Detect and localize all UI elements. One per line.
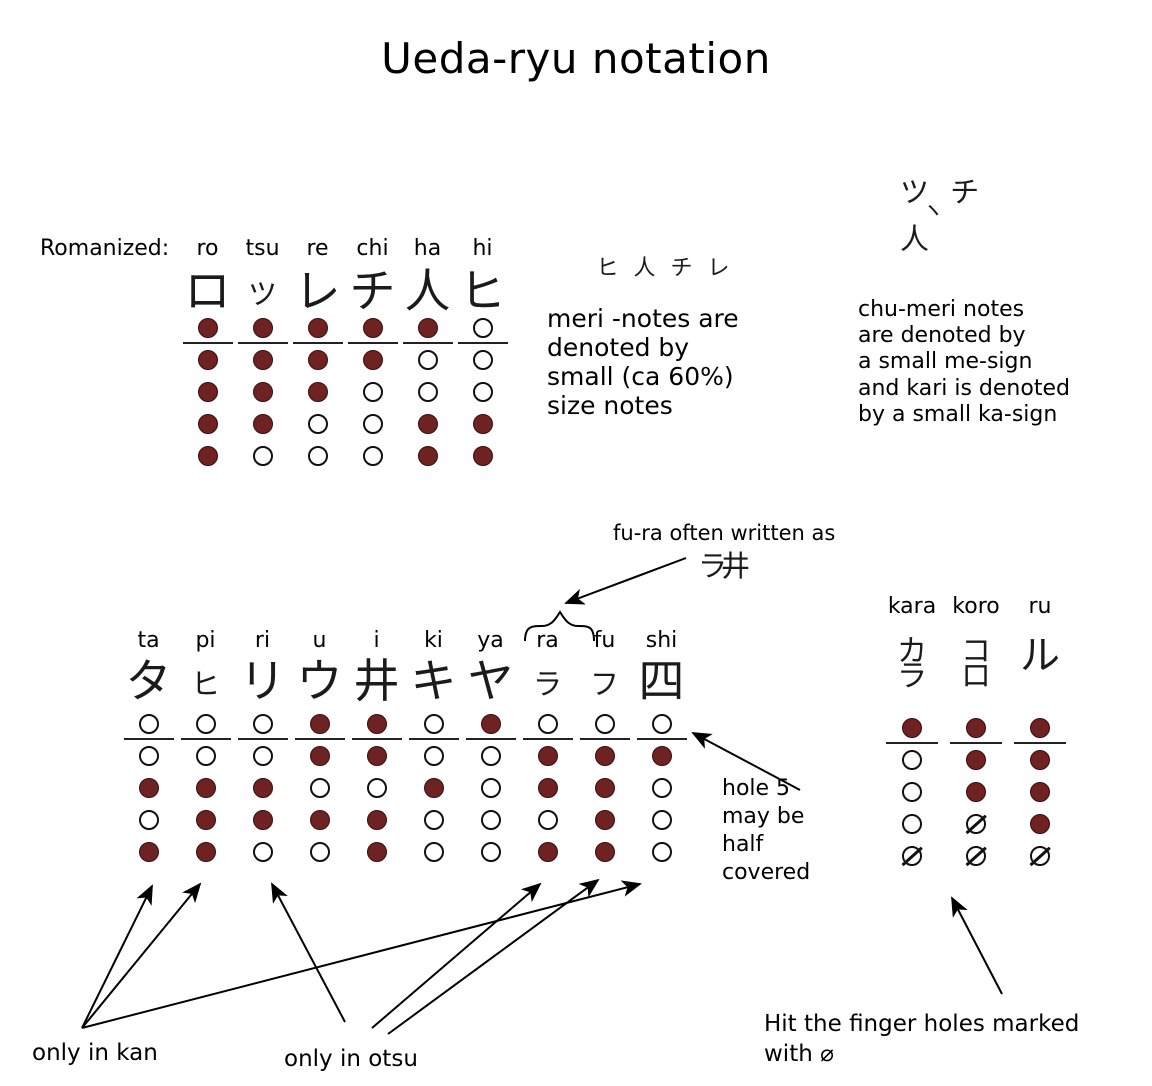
- fura-note-text: fu-ra often written as: [613, 521, 933, 546]
- hole-1-shi-open: [652, 714, 672, 734]
- hole-3-u-open: [310, 778, 330, 798]
- column-kana-ra: ラ: [521, 670, 575, 699]
- column-romaji-ro: ro: [182, 236, 234, 261]
- hole-2-re-filled: [308, 350, 328, 370]
- hole-2-ri-open: [253, 746, 273, 766]
- hole-4-ro-filled: [198, 414, 218, 434]
- hole-3-ra-filled: [538, 778, 558, 798]
- hole-2-pi-open: [196, 746, 216, 766]
- hole-3-ki-filled: [424, 778, 444, 798]
- hole-3-shi-open: [652, 778, 672, 798]
- hole-3-hi-open: [473, 382, 493, 402]
- meri-note-text: meri -notes are denoted by small (ca 60%…: [547, 304, 847, 420]
- hole-1-ya-filled: [481, 714, 501, 734]
- hole-1-pi-open: [196, 714, 216, 734]
- page-title: Ueda-ryu notation: [0, 34, 1152, 83]
- separator-line-ru: [1014, 742, 1066, 744]
- column-kana-koro: コロ: [945, 640, 1007, 689]
- notation-diagram: Ueda-ryu notation Romanized: rotsurechih…: [0, 0, 1152, 1086]
- column-kana-tsu: ツ: [237, 280, 289, 309]
- separator-line-koro: [950, 742, 1002, 744]
- hole-2-kara-open: [902, 750, 922, 770]
- hole-2-tsu-filled: [253, 350, 273, 370]
- hole-5-pi-filled: [196, 842, 216, 862]
- kan-arrow-3: [82, 884, 640, 1028]
- only-in-kan-annotation: only in kan: [32, 1040, 232, 1067]
- hole-1-koro-filled: [966, 718, 986, 738]
- column-romaji-chi: chi: [347, 236, 399, 261]
- chumeri-kana-bottom: 人: [900, 225, 1040, 254]
- hole-1-ra-open: [538, 714, 558, 734]
- kana-bottom: ロ: [961, 665, 991, 690]
- column-romaji-ra: ra: [521, 628, 575, 653]
- hole-2-koro-filled: [966, 750, 986, 770]
- separator-line-ya: [466, 738, 516, 740]
- hole-1-ro-filled: [198, 318, 218, 338]
- hole-3-ya-open: [481, 778, 501, 798]
- hole-2-hi-open: [473, 350, 493, 370]
- hole-3-chi-open: [363, 382, 383, 402]
- hole-2-ra-filled: [538, 746, 558, 766]
- hole-3-ri-filled: [253, 778, 273, 798]
- column-romaji-ki: ki: [407, 628, 461, 653]
- separator-line-ri: [238, 738, 288, 740]
- column-kana-ha: 人: [402, 268, 454, 314]
- separator-line-i: [352, 738, 402, 740]
- column-kana-ta: タ: [122, 658, 176, 704]
- hole-2-i-filled: [367, 746, 387, 766]
- meri-sample-kana: ヒ 人 チ レ: [580, 258, 750, 280]
- separator-line-ro: [183, 342, 233, 344]
- hole-4-fu-filled: [595, 810, 615, 830]
- column-romaji-pi: pi: [179, 628, 233, 653]
- hole-2-fu-filled: [595, 746, 615, 766]
- fura-arrow: [566, 558, 686, 603]
- column-romaji-kara: kara: [881, 594, 943, 619]
- hole-5-ta-filled: [139, 842, 159, 862]
- column-kana-re: レ: [292, 268, 344, 314]
- hole-2-ki-open: [424, 746, 444, 766]
- romanized-label: Romanized:: [40, 236, 190, 261]
- hole-1-re-filled: [308, 318, 328, 338]
- chumeri-sample-kana: ツ チ ヽ 人: [900, 178, 1040, 254]
- column-kana-shi: 四: [635, 658, 689, 704]
- hole-5-chi-open: [363, 446, 383, 466]
- only-in-otsu-annotation: only in otsu: [284, 1046, 504, 1073]
- hole-2-u-filled: [310, 746, 330, 766]
- hole-1-ta-open: [139, 714, 159, 734]
- column-romaji-ru: ru: [1009, 594, 1071, 619]
- separator-line-ta: [124, 738, 174, 740]
- hole-1-ru-filled: [1030, 718, 1050, 738]
- otsu-arrow-2: [372, 884, 540, 1028]
- hole-1-fu-open: [595, 714, 615, 734]
- hole-5-fu-filled: [595, 842, 615, 862]
- column-romaji-fu: fu: [578, 628, 632, 653]
- column-romaji-ri: ri: [236, 628, 290, 653]
- hole-5-u-open: [310, 842, 330, 862]
- separator-line-ra: [523, 738, 573, 740]
- hole-2-ha-open: [418, 350, 438, 370]
- hole-3-tsu-filled: [253, 382, 273, 402]
- hole-4-ki-open: [424, 810, 444, 830]
- hole-4-hi-filled: [473, 414, 493, 434]
- column-romaji-i: i: [350, 628, 404, 653]
- hole-1-ha-filled: [418, 318, 438, 338]
- column-kana-pi: ヒ: [179, 670, 233, 699]
- hole-5-ya-open: [481, 842, 501, 862]
- hole-2-ro-filled: [198, 350, 218, 370]
- hole-1-ri-open: [253, 714, 273, 734]
- hole-5-ha-filled: [418, 446, 438, 466]
- hole-3-ro-filled: [198, 382, 218, 402]
- kana-top: ル: [1020, 640, 1060, 673]
- hole-5-re-open: [308, 446, 328, 466]
- column-romaji-hi: hi: [457, 236, 509, 261]
- separator-line-fu: [580, 738, 630, 740]
- separator-line-tsu: [238, 342, 288, 344]
- hole-1-chi-filled: [363, 318, 383, 338]
- kan-arrow-2: [82, 884, 200, 1028]
- hole-3-ta-filled: [139, 778, 159, 798]
- hole-2-shi-filled: [652, 746, 672, 766]
- hole-5-ki-open: [424, 842, 444, 862]
- column-romaji-shi: shi: [635, 628, 689, 653]
- hole-1-tsu-filled: [253, 318, 273, 338]
- hole-2-ta-open: [139, 746, 159, 766]
- column-kana-ro: ロ: [182, 268, 234, 314]
- separator-line-kara: [886, 742, 938, 744]
- hole-1-kara-filled: [902, 718, 922, 738]
- hole-3-fu-filled: [595, 778, 615, 798]
- hole-2-chi-filled: [363, 350, 383, 370]
- column-romaji-ta: ta: [122, 628, 176, 653]
- hole-5-i-filled: [367, 842, 387, 862]
- kan-arrow-1: [82, 886, 152, 1028]
- hole-5-hi-filled: [473, 446, 493, 466]
- hole-4-kara-open: [902, 814, 922, 834]
- fura-glyph: ラ井: [686, 552, 756, 581]
- column-kana-kara: カラ: [881, 640, 943, 689]
- hole-5-ra-filled: [538, 842, 558, 862]
- column-romaji-ya: ya: [464, 628, 518, 653]
- hole-2-ru-filled: [1030, 750, 1050, 770]
- hole-3-i-open: [367, 778, 387, 798]
- column-kana-ya: ヤ: [464, 658, 518, 704]
- hole-4-ra-open: [538, 810, 558, 830]
- chumeri-note-text: chu-meri notes are denoted by a small me…: [858, 297, 1148, 428]
- separator-line-hi: [458, 342, 508, 344]
- hole-3-koro-filled: [966, 782, 986, 802]
- hole-5-ro-filled: [198, 446, 218, 466]
- otsu-arrow-3: [388, 880, 598, 1034]
- separator-line-re: [293, 342, 343, 344]
- separator-line-ki: [409, 738, 459, 740]
- hole-4-ha-filled: [418, 414, 438, 434]
- hole-4-tsu-filled: [253, 414, 273, 434]
- hole-3-kara-open: [902, 782, 922, 802]
- annotation-arrows: [0, 0, 1152, 1086]
- hole-4-chi-open: [363, 414, 383, 434]
- separator-line-pi: [181, 738, 231, 740]
- column-kana-fu: フ: [578, 670, 632, 699]
- hole-1-hi-open: [473, 318, 493, 338]
- hole-3-pi-filled: [196, 778, 216, 798]
- column-romaji-re: re: [292, 236, 344, 261]
- column-kana-chi: チ: [347, 268, 399, 314]
- separator-line-chi: [348, 342, 398, 344]
- hole-4-shi-open: [652, 810, 672, 830]
- hole-5-ri-open: [253, 842, 273, 862]
- column-kana-i: 井: [350, 658, 404, 704]
- hole-4-i-filled: [367, 810, 387, 830]
- hole-4-ri-filled: [253, 810, 273, 830]
- column-romaji-u: u: [293, 628, 347, 653]
- column-kana-ri: リ: [236, 658, 290, 704]
- hit-holes-arrow: [952, 898, 1002, 994]
- hole-4-ya-open: [481, 810, 501, 830]
- column-romaji-koro: koro: [945, 594, 1007, 619]
- separator-line-u: [295, 738, 345, 740]
- kana-bottom: ラ: [897, 665, 927, 690]
- hole-4-ru-filled: [1030, 814, 1050, 834]
- separator-line-ha: [403, 342, 453, 344]
- hole-2-ya-open: [481, 746, 501, 766]
- hole-1-i-filled: [367, 714, 387, 734]
- separator-line-shi: [637, 738, 687, 740]
- hole-5-tsu-open: [253, 446, 273, 466]
- hole-4-re-open: [308, 414, 328, 434]
- hole-4-pi-filled: [196, 810, 216, 830]
- hole-1-u-filled: [310, 714, 330, 734]
- otsu-arrow-1: [272, 884, 345, 1022]
- column-romaji-tsu: tsu: [237, 236, 289, 261]
- column-kana-u: ウ: [293, 658, 347, 704]
- hole-5-shi-open: [652, 842, 672, 862]
- hole-4-ta-open: [139, 810, 159, 830]
- hole-3-ru-filled: [1030, 782, 1050, 802]
- hole-3-re-filled: [308, 382, 328, 402]
- hole-4-u-filled: [310, 810, 330, 830]
- hole-1-ki-open: [424, 714, 444, 734]
- column-kana-ki: キ: [407, 658, 461, 704]
- hole5-annotation: hole 5 may be half covered: [722, 775, 852, 888]
- column-kana-hi: ヒ: [457, 268, 509, 314]
- hit-holes-annotation: Hit the finger holes marked with ⌀: [764, 1010, 1152, 1070]
- column-romaji-ha: ha: [402, 236, 454, 261]
- hole-3-ha-open: [418, 382, 438, 402]
- column-kana-ru: ル: [1009, 640, 1071, 673]
